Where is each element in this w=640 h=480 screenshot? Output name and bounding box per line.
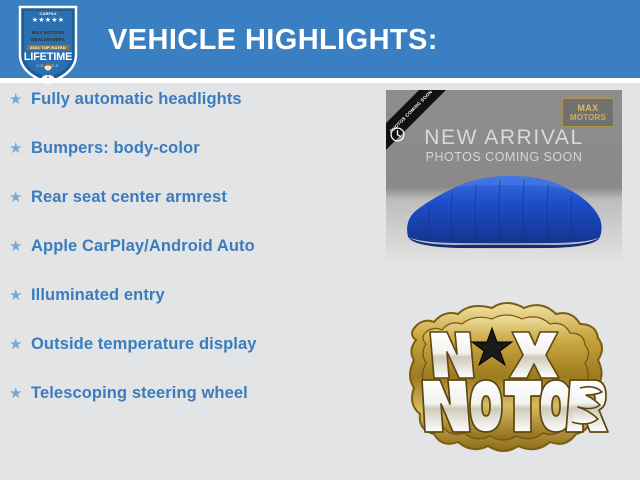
highlight-label: Illuminated entry: [31, 286, 165, 305]
list-item: ★ Apple CarPlay/Android Auto: [0, 237, 370, 286]
vehicle-highlights-list: ★ Fully automatic headlights ★ Bumpers: …: [0, 90, 370, 433]
list-item: ★ Telescoping steering wheel: [0, 384, 370, 433]
highlight-label: Outside temperature display: [31, 335, 257, 354]
star-bullet-icon: ★: [9, 335, 31, 355]
list-item: ★ Outside temperature display: [0, 335, 370, 384]
page-title: VEHICLE HIGHLIGHTS:: [108, 24, 438, 57]
star-bullet-icon: ★: [9, 384, 31, 404]
star-bullet-icon: ★: [9, 286, 31, 306]
highlight-label: Telescoping steering wheel: [31, 384, 248, 403]
star-bullet-icon: ★: [9, 188, 31, 208]
max-motors-logo: [400, 292, 612, 462]
highlight-label: Rear seat center armrest: [31, 188, 227, 207]
max-motors-watermark: MAX MOTORS: [562, 98, 614, 127]
watermark-bottom-text: MOTORS: [570, 113, 606, 122]
max-motors-buckle-icon: [400, 292, 612, 462]
page-header: CARFAX ★★★★★ MAX MOTORS DEALERSHIPS 2023…: [0, 0, 640, 78]
list-item: ★ Illuminated entry: [0, 286, 370, 335]
new-arrival-placeholder-photo[interactable]: PHOTOS COMING SOON MAX MOTORS NEW ARRIVA…: [386, 90, 622, 267]
covered-car-illustration: [400, 157, 608, 249]
list-item: ★ Bumpers: body-color: [0, 139, 370, 188]
highlight-label: Apple CarPlay/Android Auto: [31, 237, 255, 256]
star-bullet-icon: ★: [9, 139, 31, 159]
header-divider: [0, 78, 640, 83]
new-arrival-headline: NEW ARRIVAL: [386, 126, 622, 150]
watermark-top-text: MAX: [577, 104, 598, 113]
star-bullet-icon: ★: [9, 90, 31, 110]
list-item: ★ Fully automatic headlights: [0, 90, 370, 139]
highlight-label: Fully automatic headlights: [31, 90, 242, 109]
list-item: ★ Rear seat center armrest: [0, 188, 370, 237]
star-bullet-icon: ★: [9, 237, 31, 257]
carfax-lifetime-dealer-badge: CARFAX ★★★★★ MAX MOTORS DEALERSHIPS 2023…: [17, 3, 79, 85]
highlight-label: Bumpers: body-color: [31, 139, 200, 158]
